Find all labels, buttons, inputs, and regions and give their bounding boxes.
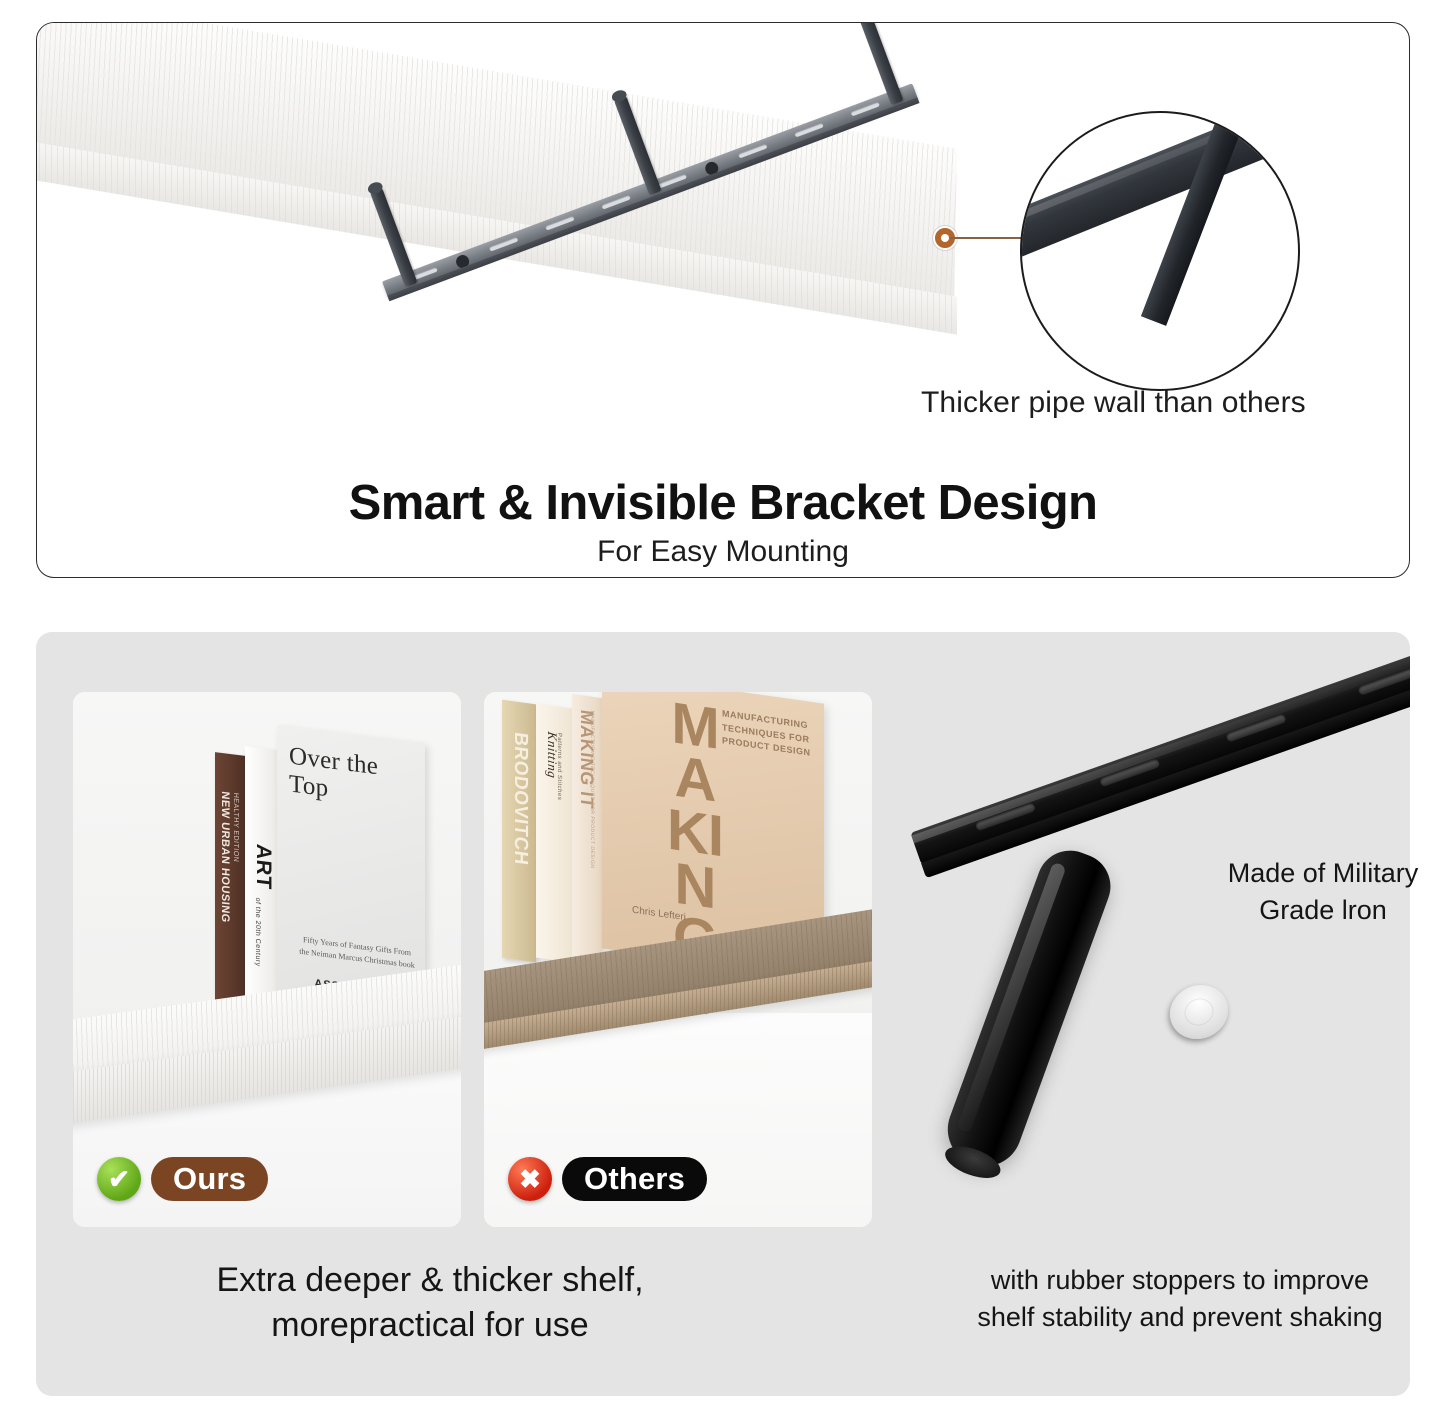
comparison-card-others: BRODOVITCH Knitting Patterns and Stitche…	[484, 692, 872, 1227]
book-spine-title: NEW URBAN HOUSING	[219, 791, 231, 924]
rubber-stopper	[1160, 977, 1237, 1047]
badge-label-ours: Ours	[151, 1157, 268, 1201]
bracket-rod-1	[369, 185, 418, 287]
bracket-pipe	[937, 841, 1119, 1176]
book-making-it: MAKING IT MANUFACTURING TECHNIQUES FOR P…	[572, 694, 602, 964]
book-spine-subtitle: HEALTHY EDITION	[232, 792, 239, 862]
callout-iron-line1: Made of Military	[1198, 855, 1445, 892]
book-new-urban-housing: NEW URBAN HOUSING HEALTHY EDITION	[215, 752, 245, 1006]
comparison-caption-line2: morepractical for use	[30, 1303, 830, 1348]
callout-iron-line2: Grade lron	[1198, 892, 1445, 929]
book-spine-subtitle: MANUFACTURING TECHNIQUES FOR PRODUCT DES…	[589, 710, 595, 869]
callout-rubber-line1: with rubber stoppers to improve	[920, 1262, 1440, 1299]
book-brodovitch: BRODOVITCH	[502, 700, 536, 963]
book-spine-title: BRODOVITCH	[509, 731, 531, 867]
bracket-pipe-open-end	[941, 1140, 1004, 1184]
comparison-caption-line1: Extra deeper & thicker shelf,	[30, 1258, 830, 1303]
page-title: Smart & Invisible Bracket Design	[37, 475, 1409, 531]
black-bracket-illustration	[876, 632, 1410, 1332]
magnified-rail	[1020, 111, 1300, 277]
book-spine-subtitle: of the 20th Century	[254, 897, 261, 967]
comparison-caption: Extra deeper & thicker shelf, morepracti…	[30, 1258, 830, 1348]
book-art-20th-century: ART of the 20th Century	[245, 746, 277, 1006]
badge-others: ✖ Others	[508, 1157, 707, 1201]
callout-rubber-line2: shelf stability and prevent shaking	[920, 1299, 1440, 1336]
bracket-design-panel: Thicker pipe wall than others Smart & In…	[36, 22, 1410, 578]
bracket-flat-bar	[910, 632, 1410, 865]
badge-label-others: Others	[562, 1157, 707, 1201]
cross-circle-icon: ✖	[508, 1157, 552, 1201]
detail-leader-line	[950, 237, 1028, 239]
book-cover-subtitle: MANUFACTURING TECHNIQUES FOR PRODUCT DES…	[722, 707, 818, 761]
callout-rubber-stoppers: with rubber stoppers to improve shelf st…	[920, 1262, 1440, 1337]
badge-ours: ✔ Ours	[97, 1157, 268, 1201]
book-knitting: Knitting Patterns and Stitches	[536, 703, 572, 962]
book-over-the-top: Over the Top Fifty Years of Fantasy Gift…	[277, 725, 425, 1015]
check-circle-icon: ✔	[97, 1157, 141, 1201]
book-cover-title: Over the Top	[289, 742, 417, 814]
callout-military-grade-iron: Made of Military Grade lron	[1198, 855, 1445, 930]
book-spine-subtitle: Patterns and Stitches	[556, 732, 562, 800]
mounting-rail-assembly	[367, 183, 967, 463]
book-spine-title: ART	[251, 843, 275, 891]
bracket-detail-magnifier	[1020, 111, 1300, 391]
page-subtitle: For Easy Mounting	[37, 535, 1409, 569]
book-cover-subtitle: Fifty Years of Fantasy Gifts From the Ne…	[299, 934, 415, 972]
comparison-card-ours: NEW URBAN HOUSING HEALTHY EDITION ART of…	[73, 692, 461, 1227]
callout-thicker-pipe-wall: Thicker pipe wall than others	[921, 386, 1410, 420]
